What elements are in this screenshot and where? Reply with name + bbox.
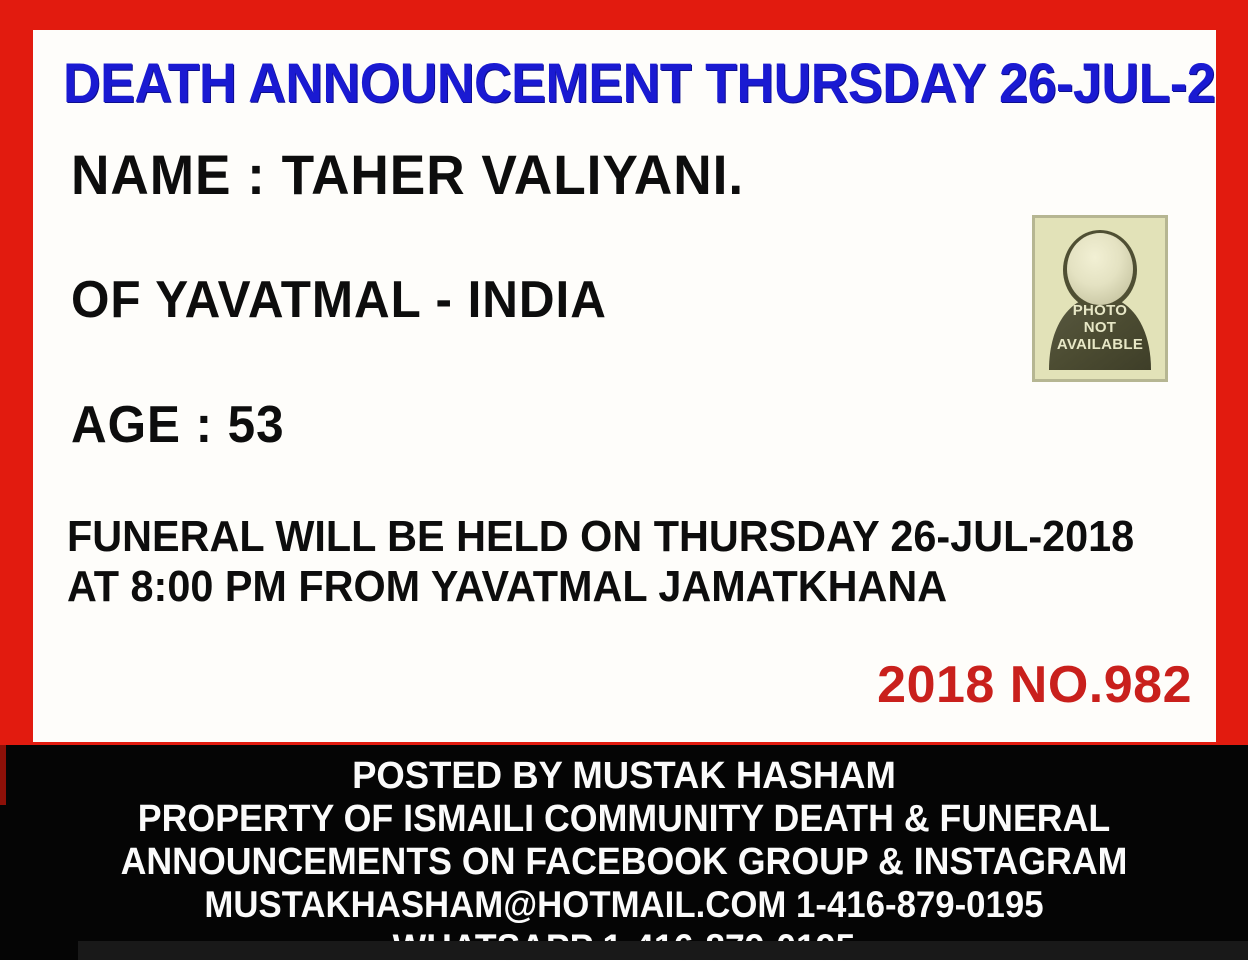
deceased-place-line: OF YAVATMAL - INDIA [71,270,607,330]
footer-email-phone-line: MUSTAKHASHAM@HOTMAIL.COM 1-416-879-0195 [37,884,1210,926]
reference-number: 2018 NO.982 [877,655,1192,715]
footer-banner: POSTED BY MUSTAK HASHAM PROPERTY OF ISMA… [0,745,1248,960]
footer-channels-line: ANNOUNCEMENTS ON FACEBOOK GROUP & INSTAG… [37,841,1210,884]
page-title: DEATH ANNOUNCEMENT THURSDAY 26-JUL-2018 [63,52,1114,114]
footer-red-edge [0,745,6,805]
person-silhouette-icon [1035,218,1165,379]
red-border-frame: DEATH ANNOUNCEMENT THURSDAY 26-JUL-2018 … [0,0,1248,748]
funeral-details-line-2: AT 8:00 PM FROM YAVATMAL JAMATKHANA [67,562,947,612]
deceased-name-line: NAME : TAHER VALIYANI. [71,142,744,207]
photo-placeholder: PHOTO NOT AVAILABLE [1032,215,1168,382]
funeral-details-line-1: FUNERAL WILL BE HELD ON THURSDAY 26-JUL-… [67,512,1134,562]
deceased-age-line: AGE : 53 [71,395,284,455]
footer-posted-by: POSTED BY MUSTAK HASHAM [25,755,1223,798]
announcement-card: DEATH ANNOUNCEMENT THURSDAY 26-JUL-2018 … [33,30,1216,742]
footer-bottom-strip [78,941,1248,960]
footer-property-line: PROPERTY OF ISMAILI COMMUNITY DEATH & FU… [37,798,1210,841]
death-announcement-poster: DEATH ANNOUNCEMENT THURSDAY 26-JUL-2018 … [0,0,1248,960]
